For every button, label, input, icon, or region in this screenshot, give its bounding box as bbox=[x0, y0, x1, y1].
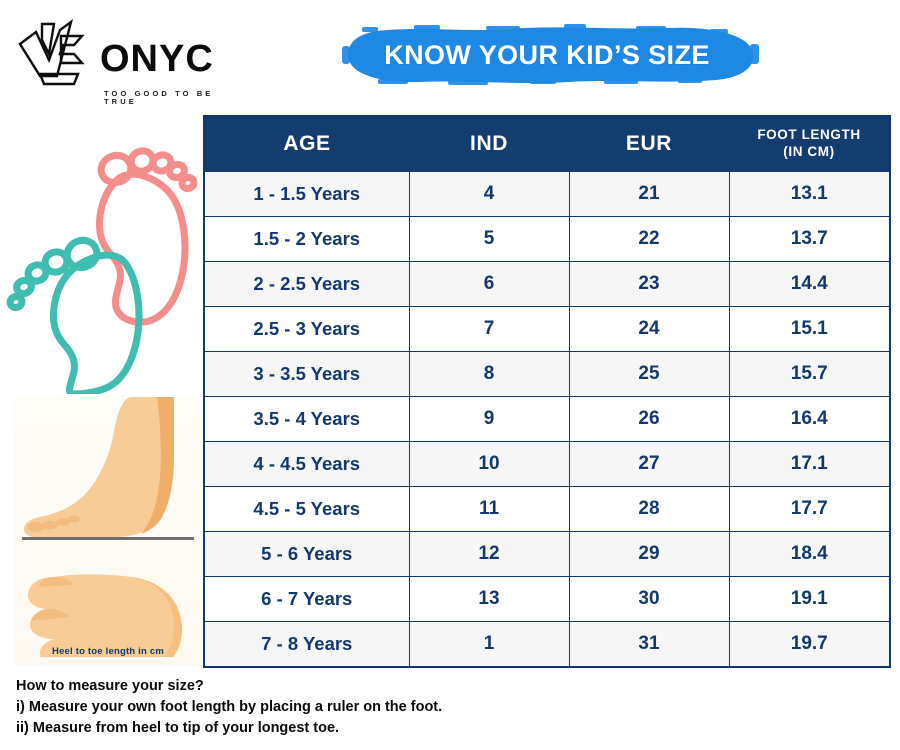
cell-foot-length: 15.1 bbox=[729, 307, 890, 352]
brand-tagline: TOO GOOD TO BE TRUE bbox=[104, 90, 226, 105]
size-chart-page: ONYC TOO GOOD TO BE TRUE KNOW YOUR bbox=[0, 0, 900, 750]
cell-ind: 6 bbox=[409, 262, 569, 307]
cell-ind: 12 bbox=[409, 532, 569, 577]
cell-age: 1.5 - 2 Years bbox=[204, 217, 409, 262]
table-row: 4.5 - 5 Years 11 28 17.7 bbox=[204, 487, 890, 532]
cell-ind: 5 bbox=[409, 217, 569, 262]
table-row: 4 - 4.5 Years 10 27 17.1 bbox=[204, 442, 890, 487]
cell-eur: 21 bbox=[569, 172, 729, 217]
cell-eur: 29 bbox=[569, 532, 729, 577]
table-row: 1 - 1.5 Years 4 21 13.1 bbox=[204, 172, 890, 217]
column-header-age: AGE bbox=[204, 116, 409, 172]
cell-eur: 26 bbox=[569, 397, 729, 442]
ruler-caption: Heel to toe length in cm bbox=[14, 646, 202, 657]
baby-footprints-icon bbox=[6, 132, 202, 394]
table-row: 3.5 - 4 Years 9 26 16.4 bbox=[204, 397, 890, 442]
cell-foot-length: 13.7 bbox=[729, 217, 890, 262]
cell-eur: 23 bbox=[569, 262, 729, 307]
cell-foot-length: 19.1 bbox=[729, 577, 890, 622]
banner-title: KNOW YOUR KID’S SIZE bbox=[318, 24, 776, 86]
column-header-foot-length-line2: (IN CM) bbox=[730, 144, 888, 161]
column-header-ind: IND bbox=[409, 116, 569, 172]
cell-age: 4 - 4.5 Years bbox=[204, 442, 409, 487]
cell-age: 2.5 - 3 Years bbox=[204, 307, 409, 352]
cell-eur: 30 bbox=[569, 577, 729, 622]
table-row: 2.5 - 3 Years 7 24 15.1 bbox=[204, 307, 890, 352]
cell-foot-length: 13.1 bbox=[729, 172, 890, 217]
cell-foot-length: 18.4 bbox=[729, 532, 890, 577]
measure-instructions: How to measure your size? i) Measure you… bbox=[16, 676, 876, 739]
cell-foot-length: 19.7 bbox=[729, 622, 890, 668]
table-row: 3 - 3.5 Years 8 25 15.7 bbox=[204, 352, 890, 397]
cell-age: 3.5 - 4 Years bbox=[204, 397, 409, 442]
foot-with-ruler-icon: Heel to toe length in cm bbox=[14, 395, 202, 665]
cell-foot-length: 15.7 bbox=[729, 352, 890, 397]
cell-ind: 9 bbox=[409, 397, 569, 442]
cell-ind: 13 bbox=[409, 577, 569, 622]
banner: KNOW YOUR KID’S SIZE bbox=[318, 24, 776, 86]
cell-ind: 4 bbox=[409, 172, 569, 217]
cell-age: 7 - 8 Years bbox=[204, 622, 409, 668]
table-row: 6 - 7 Years 13 30 19.1 bbox=[204, 577, 890, 622]
brand-logo: ONYC TOO GOOD TO BE TRUE bbox=[16, 18, 226, 100]
cell-eur: 24 bbox=[569, 307, 729, 352]
table-row: 7 - 8 Years 1 31 19.7 bbox=[204, 622, 890, 668]
cell-eur: 31 bbox=[569, 622, 729, 668]
onyc-monogram-icon bbox=[16, 18, 94, 90]
cell-ind: 11 bbox=[409, 487, 569, 532]
table-header-row: AGE IND EUR FOOT LENGTH (IN CM) bbox=[204, 116, 890, 172]
cell-eur: 27 bbox=[569, 442, 729, 487]
table-row: 5 - 6 Years 12 29 18.4 bbox=[204, 532, 890, 577]
cell-foot-length: 14.4 bbox=[729, 262, 890, 307]
cell-ind: 10 bbox=[409, 442, 569, 487]
cell-age: 4.5 - 5 Years bbox=[204, 487, 409, 532]
cell-foot-length: 17.1 bbox=[729, 442, 890, 487]
cell-age: 3 - 3.5 Years bbox=[204, 352, 409, 397]
cell-age: 1 - 1.5 Years bbox=[204, 172, 409, 217]
column-header-foot-length: FOOT LENGTH (IN CM) bbox=[729, 116, 890, 172]
cell-age: 5 - 6 Years bbox=[204, 532, 409, 577]
cell-ind: 1 bbox=[409, 622, 569, 668]
instructions-heading: How to measure your size? bbox=[16, 676, 876, 697]
instruction-step-one: i) Measure your own foot length by placi… bbox=[16, 697, 876, 718]
cell-foot-length: 16.4 bbox=[729, 397, 890, 442]
cell-age: 2 - 2.5 Years bbox=[204, 262, 409, 307]
table-body: 1 - 1.5 Years 4 21 13.1 1.5 - 2 Years 5 … bbox=[204, 172, 890, 668]
table-row: 1.5 - 2 Years 5 22 13.7 bbox=[204, 217, 890, 262]
cell-age: 6 - 7 Years bbox=[204, 577, 409, 622]
cell-foot-length: 17.7 bbox=[729, 487, 890, 532]
cell-eur: 25 bbox=[569, 352, 729, 397]
instruction-step-two: ii) Measure from heel to tip of your lon… bbox=[16, 718, 876, 739]
column-header-eur: EUR bbox=[569, 116, 729, 172]
cell-eur: 28 bbox=[569, 487, 729, 532]
size-chart-table: AGE IND EUR FOOT LENGTH (IN CM) 1 - 1.5 … bbox=[203, 115, 891, 668]
cell-ind: 8 bbox=[409, 352, 569, 397]
column-header-foot-length-line1: FOOT LENGTH bbox=[730, 127, 888, 144]
cell-ind: 7 bbox=[409, 307, 569, 352]
brand-name: ONYC bbox=[100, 40, 214, 78]
table-row: 2 - 2.5 Years 6 23 14.4 bbox=[204, 262, 890, 307]
cell-eur: 22 bbox=[569, 217, 729, 262]
